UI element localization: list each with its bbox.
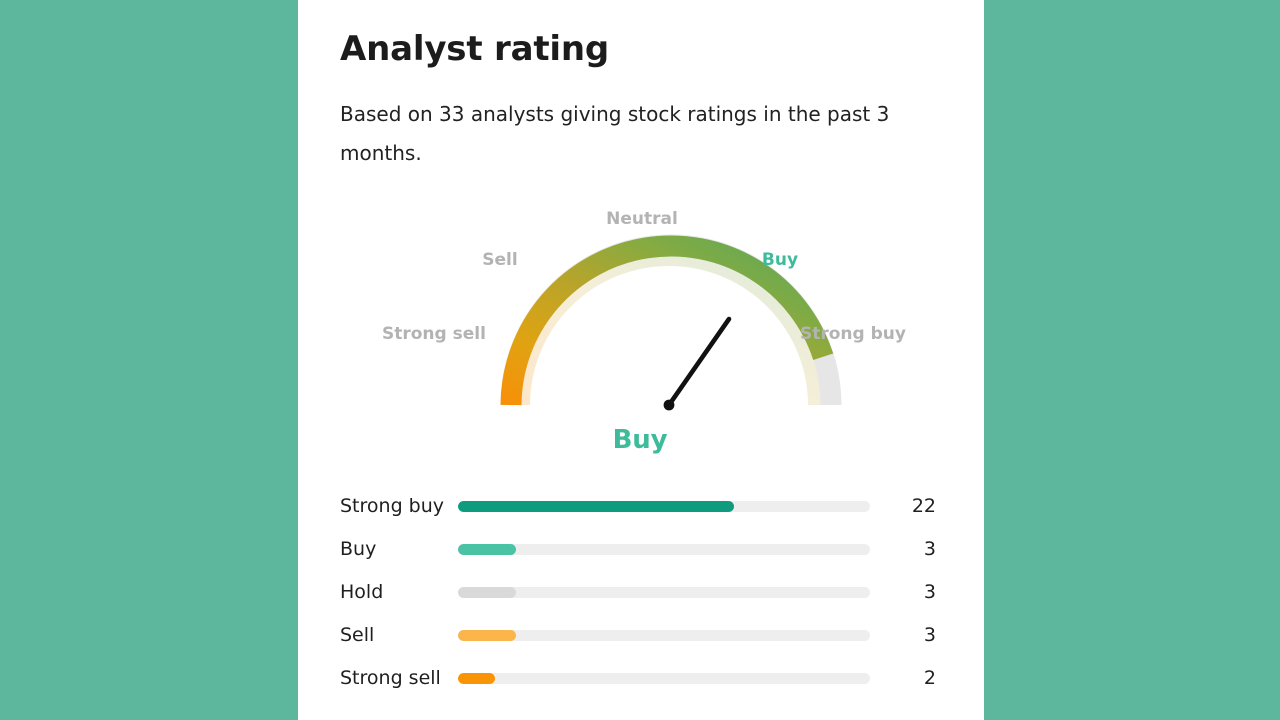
rating-bar-track	[458, 630, 870, 641]
page-title: Analyst rating	[340, 28, 609, 71]
rating-row-label: Strong buy	[340, 497, 458, 516]
gauge-needle	[664, 319, 729, 410]
rating-bar-fill	[458, 501, 734, 512]
page-root: Analyst rating Based on 33 analysts givi…	[0, 0, 1280, 720]
gauge-label-strong-buy: Strong buy	[800, 322, 890, 348]
rating-row: Hold3	[340, 571, 940, 614]
gauge-value-label: Buy	[570, 425, 710, 455]
gauge-label-strong-sell: Strong sell	[382, 322, 472, 348]
rating-bar-track	[458, 501, 870, 512]
gauge-label-buy: Buy	[745, 248, 815, 274]
rating-row-value: 3	[870, 626, 940, 645]
gauge-label-neutral: Neutral	[592, 207, 692, 233]
rating-bar-fill	[458, 673, 495, 684]
rating-bar-fill	[458, 544, 516, 555]
rating-row-value: 3	[870, 540, 940, 559]
rating-row-label: Hold	[340, 583, 458, 602]
rating-row-value: 22	[870, 497, 940, 516]
rating-row-value: 2	[870, 669, 940, 688]
rating-bar-track	[458, 544, 870, 555]
rating-row: Strong sell2	[340, 657, 940, 700]
rating-row-value: 3	[870, 583, 940, 602]
rating-bar-fill	[458, 587, 516, 598]
rating-row: Sell3	[340, 614, 940, 657]
rating-bar-track	[458, 587, 870, 598]
analyst-rating-gauge: Strong sell Sell Neutral Buy Strong buy …	[340, 190, 940, 475]
rating-row-label: Sell	[340, 626, 458, 645]
page-subtitle: Based on 33 analysts giving stock rating…	[340, 95, 900, 173]
analyst-rating-card: Analyst rating Based on 33 analysts givi…	[298, 0, 984, 720]
rating-bar-track	[458, 673, 870, 684]
rating-row: Strong buy22	[340, 485, 940, 528]
card-content: Analyst rating Based on 33 analysts givi…	[340, 0, 940, 720]
rating-row-label: Buy	[340, 540, 458, 559]
rating-row-label: Strong sell	[340, 669, 458, 688]
rating-bar-fill	[458, 630, 516, 641]
gauge-label-sell: Sell	[465, 248, 535, 274]
rating-row: Buy3	[340, 528, 940, 571]
rating-breakdown-list: Strong buy22Buy3Hold3Sell3Strong sell2	[340, 485, 940, 700]
